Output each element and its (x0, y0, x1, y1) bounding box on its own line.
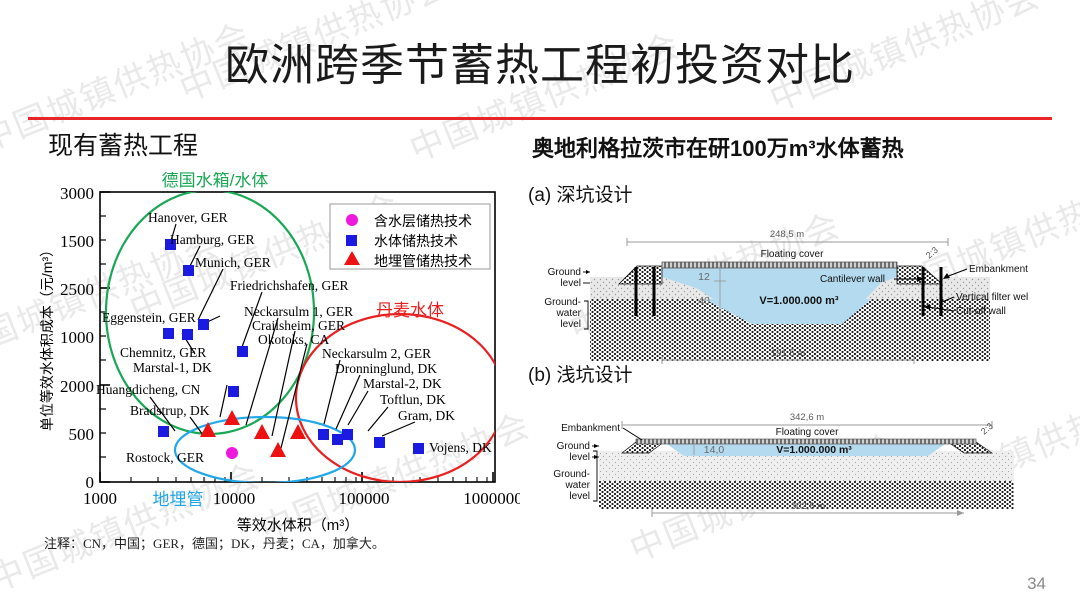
point-label: Huangdicheng, CN (96, 382, 200, 397)
y-tick-label: 1500 (60, 232, 94, 251)
x-tick-label: 100000 (339, 489, 390, 508)
ground-level-group-a: Ground level (548, 267, 590, 289)
volume-label-b: V=1.000.000 m³ (776, 444, 852, 456)
depth-label-b: 14,0 (704, 444, 725, 456)
vertical-filter-well-label: Vertical filter wel (956, 292, 1028, 303)
point-label: Marstal-2, DK (363, 376, 442, 391)
data-point-marstal-1 (228, 386, 239, 397)
legend-label-water: 水体储热技术 (374, 233, 458, 249)
ground-level-label-l2: level (560, 278, 581, 289)
point-label: Dronninglund, DK (335, 361, 437, 376)
data-point-munich (198, 319, 209, 330)
top-dimension-label-a: 248,5 m (770, 229, 804, 240)
depth-lower-label-a: 40 (698, 295, 710, 307)
point-label: Okotoks, CA (258, 332, 330, 347)
y-tick-label: 500 (69, 425, 95, 444)
volume-label-a: V=1.000.000 m³ (759, 295, 839, 307)
ground-level-label-l2: level (569, 452, 590, 463)
x-tick-label: 10000 (213, 489, 256, 508)
cantilever-wall-label: Cantilever wall (820, 274, 885, 285)
initial-investment-scatter-chart: 3000 2500 2000 1500 1000 500 0 单位等效水体积成本… (30, 172, 520, 572)
point-label: Bradstrup, DK (130, 403, 210, 418)
page-title: 欧洲跨季节蓄热工程初投资对比 (0, 42, 1080, 90)
annotation-german-group: 德国水箱/水体 (162, 172, 269, 190)
chart-footnote: 注释：CN，中国；GER，德国；DK，丹麦；CA，加拿大。 (44, 533, 385, 552)
data-point-neckarsulm-2 (318, 429, 329, 440)
legend-label-btes: 地埋管储热技术 (374, 253, 472, 269)
data-point-rostock (226, 447, 238, 459)
top-dimension-a: 248,5 m (627, 229, 948, 246)
point-label: Neckarsulm 1, GER (244, 304, 353, 319)
groundwater-label-l1: Ground- (544, 297, 581, 308)
annotation-danish-group: 丹麦水体 (376, 301, 444, 320)
x-tick-label: 1000000 (463, 489, 520, 508)
x-axis-labels: 1000 10000 100000 1000000 (83, 489, 520, 508)
panel-a-caption: (a) 深坑设计 (528, 180, 1076, 207)
point-label: Chemnitz, GER (120, 345, 206, 360)
point-label: Vojens, DK (429, 440, 492, 455)
data-point-vojens (413, 443, 424, 454)
groundwater-label-l2: water (556, 308, 582, 319)
floating-cover-label-b: Floating cover (776, 427, 839, 438)
slope-label-a: 2:3 (924, 245, 940, 261)
y-tick-label: 2500 (60, 280, 94, 299)
bottom-dimension-label-b: 302,6 m (791, 501, 825, 512)
depth-upper-label-a: 12 (698, 271, 710, 283)
y-tick-label: 2000 (60, 377, 94, 396)
floating-cover-a (662, 262, 897, 268)
embankment-label-b: Embankment (561, 423, 620, 434)
groundwater-label-l3: level (569, 491, 590, 502)
data-point-marstal-2 (342, 429, 353, 440)
bottom-dimension-label-a: 191,5 m (771, 348, 805, 359)
data-point-chemnitz (182, 329, 193, 340)
data-point-friedrichshafen (237, 346, 248, 357)
ground-level-label-l1: Ground (548, 267, 581, 278)
embankment-right-a (897, 266, 942, 284)
groundwater-level-group-a: Ground- water level (544, 297, 588, 330)
chart-legend: 含水层储热技术 水体储热技术 地埋管储热技术 (330, 204, 490, 269)
shallow-pit-design-diagram: (b) 浅坑设计 342,6 m (524, 360, 1076, 520)
y-axis-title: 单位等效水体积成本（元/m³） (39, 243, 55, 431)
y-tick-label: 1000 (60, 328, 94, 347)
point-label: Crailsheim, GER (252, 318, 345, 333)
page-number: 34 (1027, 574, 1046, 594)
point-label: Neckarsulm 2, GER (322, 346, 431, 361)
top-dimension-label-b: 342,6 m (790, 412, 824, 423)
x-tick-label: 1000 (83, 489, 117, 508)
mid-soil-b (599, 469, 1014, 481)
data-point-eggenstein (163, 328, 174, 339)
deep-pit-design-diagram: (a) 深坑设计 248,5 m (524, 180, 1076, 366)
legend-marker-aquifer-icon (346, 214, 358, 226)
point-label: Hanover, GER (148, 210, 228, 225)
point-label: Friedrichshafen, GER (230, 278, 348, 293)
floating-cover-label-a: Floating cover (761, 249, 824, 260)
ground-level-group-b: Ground level (557, 441, 599, 463)
cutoff-wall-label: Cut-off wall (956, 306, 1006, 317)
data-point-huangdicheng (158, 426, 169, 437)
embankment-callout-b: Embankment (561, 423, 642, 440)
point-label: Gram, DK (398, 408, 455, 423)
panel-b-caption: (b) 浅坑设计 (528, 360, 1076, 387)
annotation-btes-group: 地埋管 (153, 490, 204, 509)
data-point-hamburg (183, 265, 194, 276)
legend-marker-water-icon (346, 235, 357, 246)
embankment-left-a (619, 266, 662, 284)
ground-level-label-l1: Ground (557, 441, 590, 452)
title-divider (28, 117, 1052, 120)
point-label: Marstal-1, DK (133, 360, 212, 375)
y-tick-label: 3000 (60, 184, 94, 203)
data-point-dronninglund (332, 434, 343, 445)
left-section-heading: 现有蓄热工程 (48, 126, 198, 162)
right-section-heading: 奥地利格拉茨市在研100万m³水体蓄热 (532, 131, 904, 163)
point-label: Rostock, GER (126, 450, 204, 465)
point-label: Hamburg, GER (170, 232, 255, 247)
embankment-label-a: Embankment (969, 264, 1028, 275)
groundwater-label-l2: water (565, 480, 591, 491)
legend-label-aquifer: 含水层储热技术 (374, 213, 472, 229)
point-label: Toftlun, DK (380, 392, 446, 407)
x-axis-title: 等效水体积（m³） (237, 516, 360, 534)
groundwater-label-l3: level (560, 319, 581, 330)
point-label: Eggenstein, GER (102, 310, 196, 325)
groundwater-label-l1: Ground- (553, 469, 590, 480)
data-point-toftlun (374, 437, 385, 448)
point-label: Munich, GER (195, 255, 271, 270)
